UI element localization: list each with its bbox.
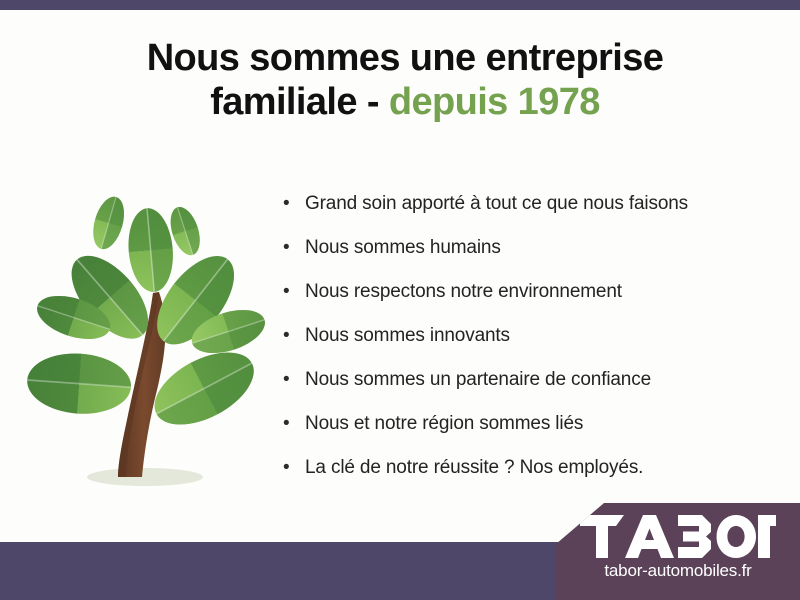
list-item-label: Grand soin apporté à tout ce que nous fa… xyxy=(305,190,688,217)
list-item-label: Nous respectons notre environnement xyxy=(305,278,622,305)
bullet-marker-icon: • xyxy=(283,366,305,393)
brand-url[interactable]: tabor-automobiles.fr xyxy=(604,561,751,581)
brand-logo-panel[interactable]: tabor-automobiles.fr xyxy=(556,503,800,600)
list-item-label: Nous sommes un partenaire de confiance xyxy=(305,366,651,393)
list-item-label: La clé de notre réussite ? Nos employés. xyxy=(305,454,643,481)
bullet-marker-icon: • xyxy=(283,410,305,437)
list-item: • Nous sommes innovants xyxy=(283,322,783,366)
bullet-marker-icon: • xyxy=(283,454,305,481)
list-item: • Nous et notre région sommes liés xyxy=(283,410,783,454)
headline-line2-plain: familiale - xyxy=(210,81,389,123)
bullet-marker-icon: • xyxy=(283,190,305,217)
leaf xyxy=(88,193,130,253)
tree-shadow xyxy=(87,468,203,486)
tabor-wordmark-icon xyxy=(580,515,776,559)
value-bullet-list: • Grand soin apporté à tout ce que nous … xyxy=(283,190,783,498)
list-item: • La clé de notre réussite ? Nos employé… xyxy=(283,454,783,498)
bullet-marker-icon: • xyxy=(283,322,305,349)
headline-line2-accent: depuis 1978 xyxy=(389,81,600,123)
list-item-label: Nous et notre région sommes liés xyxy=(305,410,583,437)
tree-illustration xyxy=(14,180,276,497)
list-item: • Nous respectons notre environnement xyxy=(283,278,783,322)
slide-canvas: Nous sommes une entreprise familiale - d… xyxy=(0,0,800,600)
leaf xyxy=(125,206,176,294)
bullet-marker-icon: • xyxy=(283,278,305,305)
list-item: • Grand soin apporté à tout ce que nous … xyxy=(283,190,783,234)
list-item-label: Nous sommes innovants xyxy=(305,322,510,349)
list-item-label: Nous sommes humains xyxy=(305,234,501,261)
list-item: • Nous sommes humains xyxy=(283,234,783,278)
top-accent-band xyxy=(0,0,800,10)
headline-line1: Nous sommes une entreprise xyxy=(147,37,664,79)
leaf xyxy=(25,350,133,417)
list-item: • Nous sommes un partenaire de confiance xyxy=(283,366,783,410)
bullet-marker-icon: • xyxy=(283,234,305,261)
page-title: Nous sommes une entreprise familiale - d… xyxy=(60,36,750,125)
